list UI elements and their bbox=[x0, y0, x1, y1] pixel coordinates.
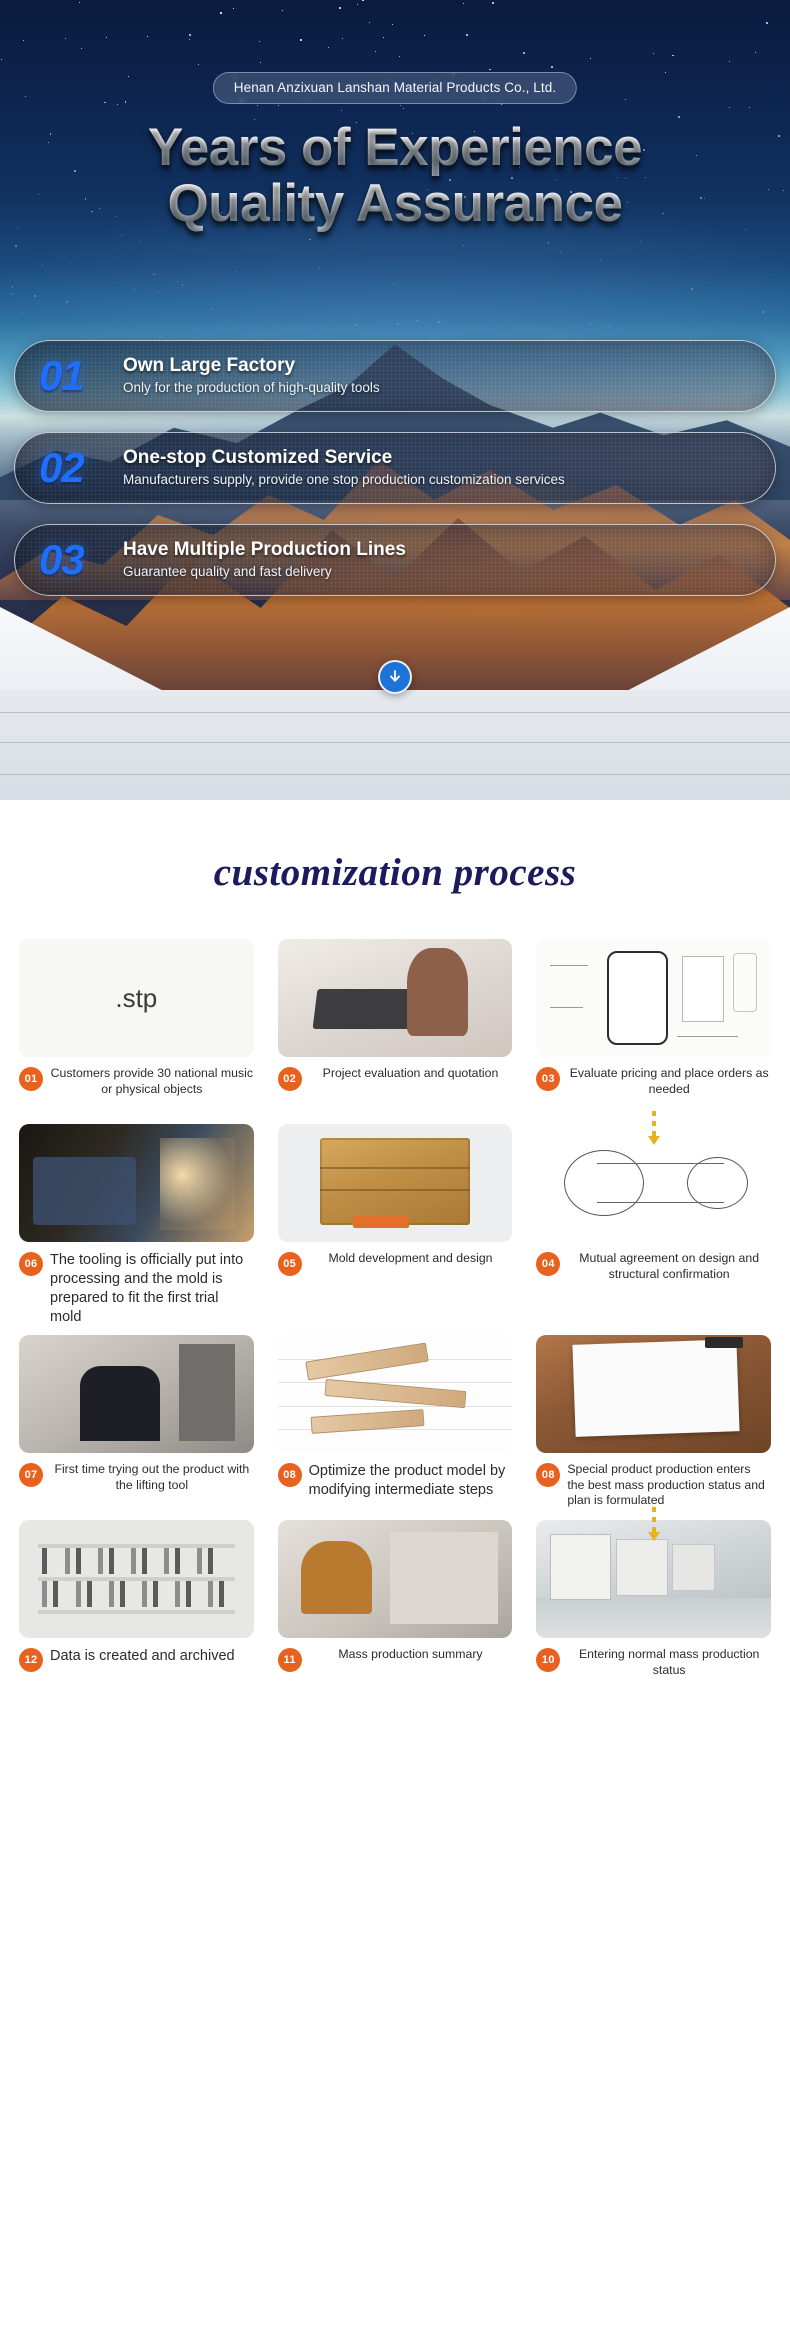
feature-subtitle: Manufacturers supply, provide one stop p… bbox=[123, 471, 565, 489]
feature-title: One-stop Customized Service bbox=[123, 447, 565, 469]
feature-bar-02[interactable]: 02One-stop Customized ServiceManufacture… bbox=[14, 432, 776, 504]
step-caption: Evaluate pricing and place orders as nee… bbox=[567, 1066, 771, 1097]
feature-number: 02 bbox=[39, 447, 123, 489]
feature-title: Have Multiple Production Lines bbox=[123, 539, 406, 561]
step-thumbnail bbox=[278, 939, 513, 1057]
page-title: Years of Experience Quality Assurance bbox=[0, 120, 790, 232]
stp-label: .stp bbox=[115, 983, 157, 1014]
step-thumbnail: .stp bbox=[19, 939, 254, 1057]
step-thumbnail bbox=[536, 1335, 771, 1453]
hero-banner: Henan Anzixuan Lanshan Material Products… bbox=[0, 0, 790, 800]
tooling-workshop-thumb bbox=[19, 1124, 254, 1242]
feature-bar-list: 01Own Large FactoryOnly for the producti… bbox=[14, 340, 776, 616]
feature-number: 03 bbox=[39, 539, 123, 581]
meeting-laptop-thumb bbox=[278, 939, 513, 1057]
step-number-badge: 06 bbox=[19, 1252, 43, 1276]
step-number-badge: 04 bbox=[536, 1252, 560, 1276]
product-plan-thumb bbox=[278, 1335, 513, 1453]
step-number-badge: 08 bbox=[278, 1463, 302, 1487]
step-number-badge: 08 bbox=[536, 1463, 560, 1487]
feature-bar-03[interactable]: 03Have Multiple Production LinesGuarante… bbox=[14, 524, 776, 596]
company-name-pill: Henan Anzixuan Lanshan Material Products… bbox=[213, 72, 577, 104]
step-caption: Mass production summary bbox=[309, 1647, 513, 1663]
step-caption: Customers provide 30 national music or p… bbox=[50, 1066, 254, 1097]
archive-shelf-thumb bbox=[19, 1520, 254, 1638]
wooden-mold-thumb bbox=[278, 1124, 513, 1242]
floor-surface bbox=[0, 690, 790, 800]
step-number-badge: 10 bbox=[536, 1648, 560, 1672]
section-title: customization process bbox=[0, 850, 790, 895]
process-step-card[interactable]: 07First time trying out the product with… bbox=[15, 1335, 258, 1512]
process-step-card[interactable]: .stp01Customers provide 30 national musi… bbox=[15, 939, 258, 1116]
step-thumbnail bbox=[19, 1124, 254, 1242]
feature-number: 01 bbox=[39, 355, 123, 397]
feature-subtitle: Guarantee quality and fast delivery bbox=[123, 563, 406, 581]
step-caption: First time trying out the product with t… bbox=[50, 1462, 254, 1493]
step-caption: Mutual agreement on design and structura… bbox=[567, 1251, 771, 1282]
headline-line-1: Years of Experience bbox=[0, 120, 790, 176]
step-thumbnail bbox=[278, 1335, 513, 1453]
step-number-badge: 12 bbox=[19, 1648, 43, 1672]
feature-subtitle: Only for the production of high-quality … bbox=[123, 379, 380, 397]
scroll-down-button[interactable] bbox=[378, 660, 412, 694]
process-steps-grid: .stp01Customers provide 30 national musi… bbox=[15, 939, 775, 1697]
process-step-card[interactable]: 08Optimize the product model by modifyin… bbox=[274, 1335, 517, 1512]
flow-arrow-down bbox=[647, 1507, 661, 1541]
step-number-badge: 01 bbox=[19, 1067, 43, 1091]
step-caption: Entering normal mass production status bbox=[567, 1647, 771, 1678]
step-number-badge: 07 bbox=[19, 1463, 43, 1487]
customization-process-section: customization process .stp01Customers pr… bbox=[0, 800, 790, 1737]
step-caption: Optimize the product model by modifying … bbox=[309, 1462, 513, 1500]
process-step-card[interactable]: 04Mutual agreement on design and structu… bbox=[532, 1124, 775, 1327]
feature-title: Own Large Factory bbox=[123, 355, 380, 377]
process-step-card[interactable]: 02Project evaluation and quotation bbox=[274, 939, 517, 1116]
step-number-badge: 05 bbox=[278, 1252, 302, 1276]
chevron-down-icon bbox=[388, 670, 402, 684]
step-thumbnail bbox=[19, 1520, 254, 1638]
clipboard-document-thumb bbox=[536, 1335, 771, 1453]
process-step-card[interactable]: 12Data is created and archived bbox=[15, 1520, 258, 1697]
step-thumbnail bbox=[278, 1124, 513, 1242]
step-number-badge: 11 bbox=[278, 1648, 302, 1672]
headline-line-2: Quality Assurance bbox=[0, 176, 790, 232]
step-caption: Data is created and archived bbox=[50, 1647, 254, 1666]
step-thumbnail bbox=[536, 939, 771, 1057]
step-number-badge: 02 bbox=[278, 1067, 302, 1091]
process-step-card[interactable]: 11Mass production summary bbox=[274, 1520, 517, 1697]
step-thumbnail bbox=[19, 1335, 254, 1453]
step-caption: Special product production enters the be… bbox=[567, 1462, 771, 1509]
step-thumbnail bbox=[278, 1520, 513, 1638]
step-caption: Mold development and design bbox=[309, 1251, 513, 1267]
step-caption: Project evaluation and quotation bbox=[309, 1066, 513, 1082]
feature-bar-01[interactable]: 01Own Large FactoryOnly for the producti… bbox=[14, 340, 776, 412]
step-caption: The tooling is officially put into proce… bbox=[50, 1251, 254, 1327]
stp-file-thumb: .stp bbox=[19, 939, 254, 1057]
training-meeting-thumb bbox=[278, 1520, 513, 1638]
flow-arrow-down bbox=[647, 1111, 661, 1145]
process-step-card[interactable]: 06The tooling is officially put into pro… bbox=[15, 1124, 258, 1327]
design-sketch-thumb bbox=[536, 939, 771, 1057]
step-number-badge: 03 bbox=[536, 1067, 560, 1091]
process-step-card[interactable]: 03Evaluate pricing and place orders as n… bbox=[532, 939, 775, 1116]
process-step-card[interactable]: 10Entering normal mass production status bbox=[532, 1520, 775, 1697]
office-monitor-thumb bbox=[19, 1335, 254, 1453]
process-step-card[interactable]: 08Special product production enters the … bbox=[532, 1335, 775, 1512]
process-step-card[interactable]: 05Mold development and design bbox=[274, 1124, 517, 1327]
